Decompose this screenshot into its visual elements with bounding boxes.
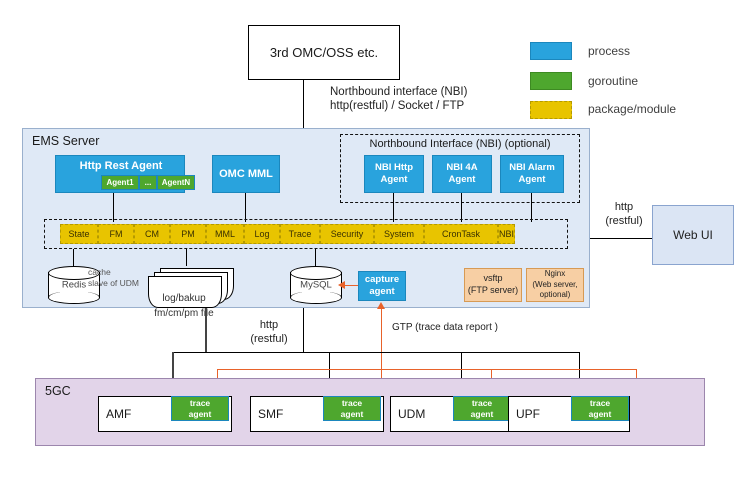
nbi-http-agent-box[interactable]: NBI Http Agent	[364, 155, 424, 193]
nbi-http-agent-line2: Agent	[381, 174, 408, 186]
http-rest-agent-label: Http Rest Agent	[56, 158, 186, 173]
upf-trace-agent[interactable]: trace agent	[571, 396, 629, 421]
smf-trace-agent-line1: trace	[342, 398, 362, 408]
webui-link-line2: (restful)	[605, 214, 642, 228]
gtp-vertical-line	[381, 308, 382, 369]
goroutine-agent-ellipsis: ...	[139, 175, 157, 190]
nbi-alarm-agent-connector	[531, 193, 532, 222]
legend: process goroutine package/module	[530, 40, 745, 120]
http-bus-horizontal	[172, 352, 580, 353]
module-log-label: Log	[254, 229, 269, 239]
udm-trace-agent[interactable]: trace agent	[453, 396, 511, 421]
amf-node[interactable]: AMF trace agent	[98, 396, 232, 432]
vsftp-line2: (FTP server)	[468, 285, 518, 297]
module-trace[interactable]: Trace	[280, 224, 320, 244]
amf-trace-agent[interactable]: trace agent	[171, 396, 229, 421]
module-security[interactable]: Security	[320, 224, 374, 244]
module-nbi-label: NBI	[499, 229, 514, 239]
goroutine-agent1-label: Agent1	[106, 178, 133, 187]
gtp-bus-horizontal	[217, 369, 637, 370]
goroutine-agentn-label: AgentN	[162, 178, 190, 187]
log-backup-files[interactable]: log/bakup fm/cm/pm file	[148, 268, 232, 306]
module-mml-label: MML	[215, 229, 235, 239]
smf-trace-agent-line2: agent	[341, 409, 364, 419]
nbi-4a-agent-line1: NBI 4A	[446, 162, 477, 174]
web-ui-box[interactable]: Web UI	[652, 205, 734, 265]
module-system[interactable]: System	[374, 224, 424, 244]
upf-label: UPF	[516, 407, 540, 421]
module-state[interactable]: State	[60, 224, 98, 244]
module-crontask[interactable]: CronTask	[424, 224, 498, 244]
mysql-database[interactable]: MySQL	[290, 266, 342, 304]
http-restful-vertical-line	[205, 308, 207, 353]
legend-swatch-process	[530, 42, 572, 60]
goroutine-agentn[interactable]: AgentN	[157, 175, 195, 190]
nbi-4a-agent-box[interactable]: NBI 4A Agent	[432, 155, 492, 193]
third-party-omc-oss-label: 3rd OMC/OSS etc.	[270, 45, 378, 60]
http-restful-line1: http	[260, 318, 278, 332]
fivegc-title: 5GC	[45, 384, 71, 398]
mysql-cylinder-top	[290, 266, 342, 280]
third-party-omc-oss-box[interactable]: 3rd OMC/OSS etc.	[248, 25, 400, 80]
nbi-connector-line	[303, 80, 304, 129]
module-fm[interactable]: FM	[98, 224, 134, 244]
nbi-caption-line1: Northbound interface (NBI)	[330, 85, 540, 99]
mysql-label: MySQL	[290, 280, 342, 291]
http-bus-drop-line	[303, 308, 304, 353]
nginx-line1: Nginx	[545, 269, 565, 279]
omc-mml-connector	[245, 193, 246, 222]
capture-to-mysql-arrowhead	[338, 281, 345, 289]
nbi-alarm-agent-line2: Agent	[519, 174, 546, 186]
nginx-line2: (Web server,	[532, 280, 577, 290]
nbi-4a-agent-connector	[461, 193, 462, 222]
amf-label: AMF	[106, 407, 131, 421]
amf-trace-agent-line2: agent	[189, 409, 212, 419]
omc-mml-box[interactable]: OMC MML	[212, 155, 280, 193]
files-label: log/bakup fm/cm/pm file	[148, 292, 220, 321]
http-rest-agent-connector	[113, 193, 114, 222]
goroutine-agent1[interactable]: Agent1	[101, 175, 139, 190]
udm-label: UDM	[398, 407, 425, 421]
http-restful-label: http (restful)	[240, 318, 298, 347]
goroutine-ellipsis-label: ...	[145, 178, 152, 187]
module-log[interactable]: Log	[244, 224, 280, 244]
module-fm-label: FM	[110, 229, 123, 239]
http-rest-agent-box[interactable]: Http Rest Agent Agent1 ... AgentN	[55, 155, 185, 193]
module-security-label: Security	[331, 229, 364, 239]
vsftp-line1: vsftp	[483, 273, 502, 285]
webui-link-line1: http	[615, 200, 633, 214]
capture-to-mysql-line	[344, 285, 358, 286]
module-system-label: System	[384, 229, 414, 239]
redis-cylinder-bottom	[48, 291, 100, 304]
udm-trace-agent-line1: trace	[472, 398, 492, 408]
module-bar: State FM CM PM MML Log Trace Security Sy…	[60, 224, 492, 244]
module-mml[interactable]: MML	[206, 224, 244, 244]
legend-label-process: process	[588, 44, 630, 58]
udm-trace-agent-line2: agent	[471, 409, 494, 419]
nbi-caption-line2: http(restful) / Socket / FTP	[330, 99, 540, 113]
module-pm-label: PM	[181, 229, 195, 239]
smf-trace-agent[interactable]: trace agent	[323, 396, 381, 421]
module-nbi[interactable]: NBI	[498, 224, 515, 244]
nginx-box[interactable]: Nginx (Web server, optional)	[526, 268, 584, 302]
nginx-line3: optional)	[540, 290, 571, 300]
nbi-interface-caption: Northbound interface (NBI) http(restful)…	[330, 85, 540, 114]
legend-label-goroutine: goroutine	[588, 74, 638, 88]
capture-agent-box[interactable]: capture agent	[358, 271, 406, 301]
upf-trace-agent-line1: trace	[590, 398, 610, 408]
vsftp-box[interactable]: vsftp (FTP server)	[464, 268, 522, 302]
ems-server-title: EMS Server	[32, 134, 99, 148]
module-cm[interactable]: CM	[134, 224, 170, 244]
gtp-label: GTP (trace data report )	[392, 322, 562, 335]
module-trace-label: Trace	[289, 229, 312, 239]
web-ui-label: Web UI	[673, 228, 713, 242]
webui-connector-line	[590, 238, 652, 239]
smf-node[interactable]: SMF trace agent	[250, 396, 384, 432]
module-to-mysql-connector	[315, 249, 316, 266]
http-restful-line2: (restful)	[250, 332, 287, 346]
gtp-to-capture-arrowhead	[377, 302, 385, 309]
smf-label: SMF	[258, 407, 283, 421]
legend-label-module: package/module	[588, 102, 676, 116]
module-pm[interactable]: PM	[170, 224, 206, 244]
files-line2: fm/cm/pm file	[148, 307, 220, 322]
nbi-group-title: Northbound Interface (NBI) (optional)	[340, 137, 580, 151]
module-to-redis-connector	[73, 249, 74, 266]
nbi-alarm-agent-box[interactable]: NBI Alarm Agent	[500, 155, 564, 193]
module-crontask-label: CronTask	[442, 229, 480, 239]
mysql-cylinder-bottom	[290, 291, 342, 304]
capture-agent-line1: capture	[365, 274, 399, 286]
amf-trace-agent-line1: trace	[190, 398, 210, 408]
module-cm-label: CM	[145, 229, 159, 239]
nbi-http-agent-line1: NBI Http	[375, 162, 413, 174]
module-to-files-connector	[186, 249, 187, 266]
webui-link-label: http (restful)	[598, 200, 650, 229]
upf-node[interactable]: UPF trace agent	[508, 396, 630, 432]
omc-mml-label: OMC MML	[219, 168, 273, 180]
files-line1: log/bakup	[148, 292, 220, 307]
upf-trace-agent-line2: agent	[589, 409, 612, 419]
nbi-alarm-agent-line1: NBI Alarm	[509, 162, 555, 174]
nbi-http-agent-connector	[393, 193, 394, 222]
module-state-label: State	[68, 229, 89, 239]
capture-agent-line2: agent	[369, 286, 394, 298]
udm-node[interactable]: UDM trace agent	[390, 396, 512, 432]
nbi-4a-agent-line2: Agent	[449, 174, 476, 186]
